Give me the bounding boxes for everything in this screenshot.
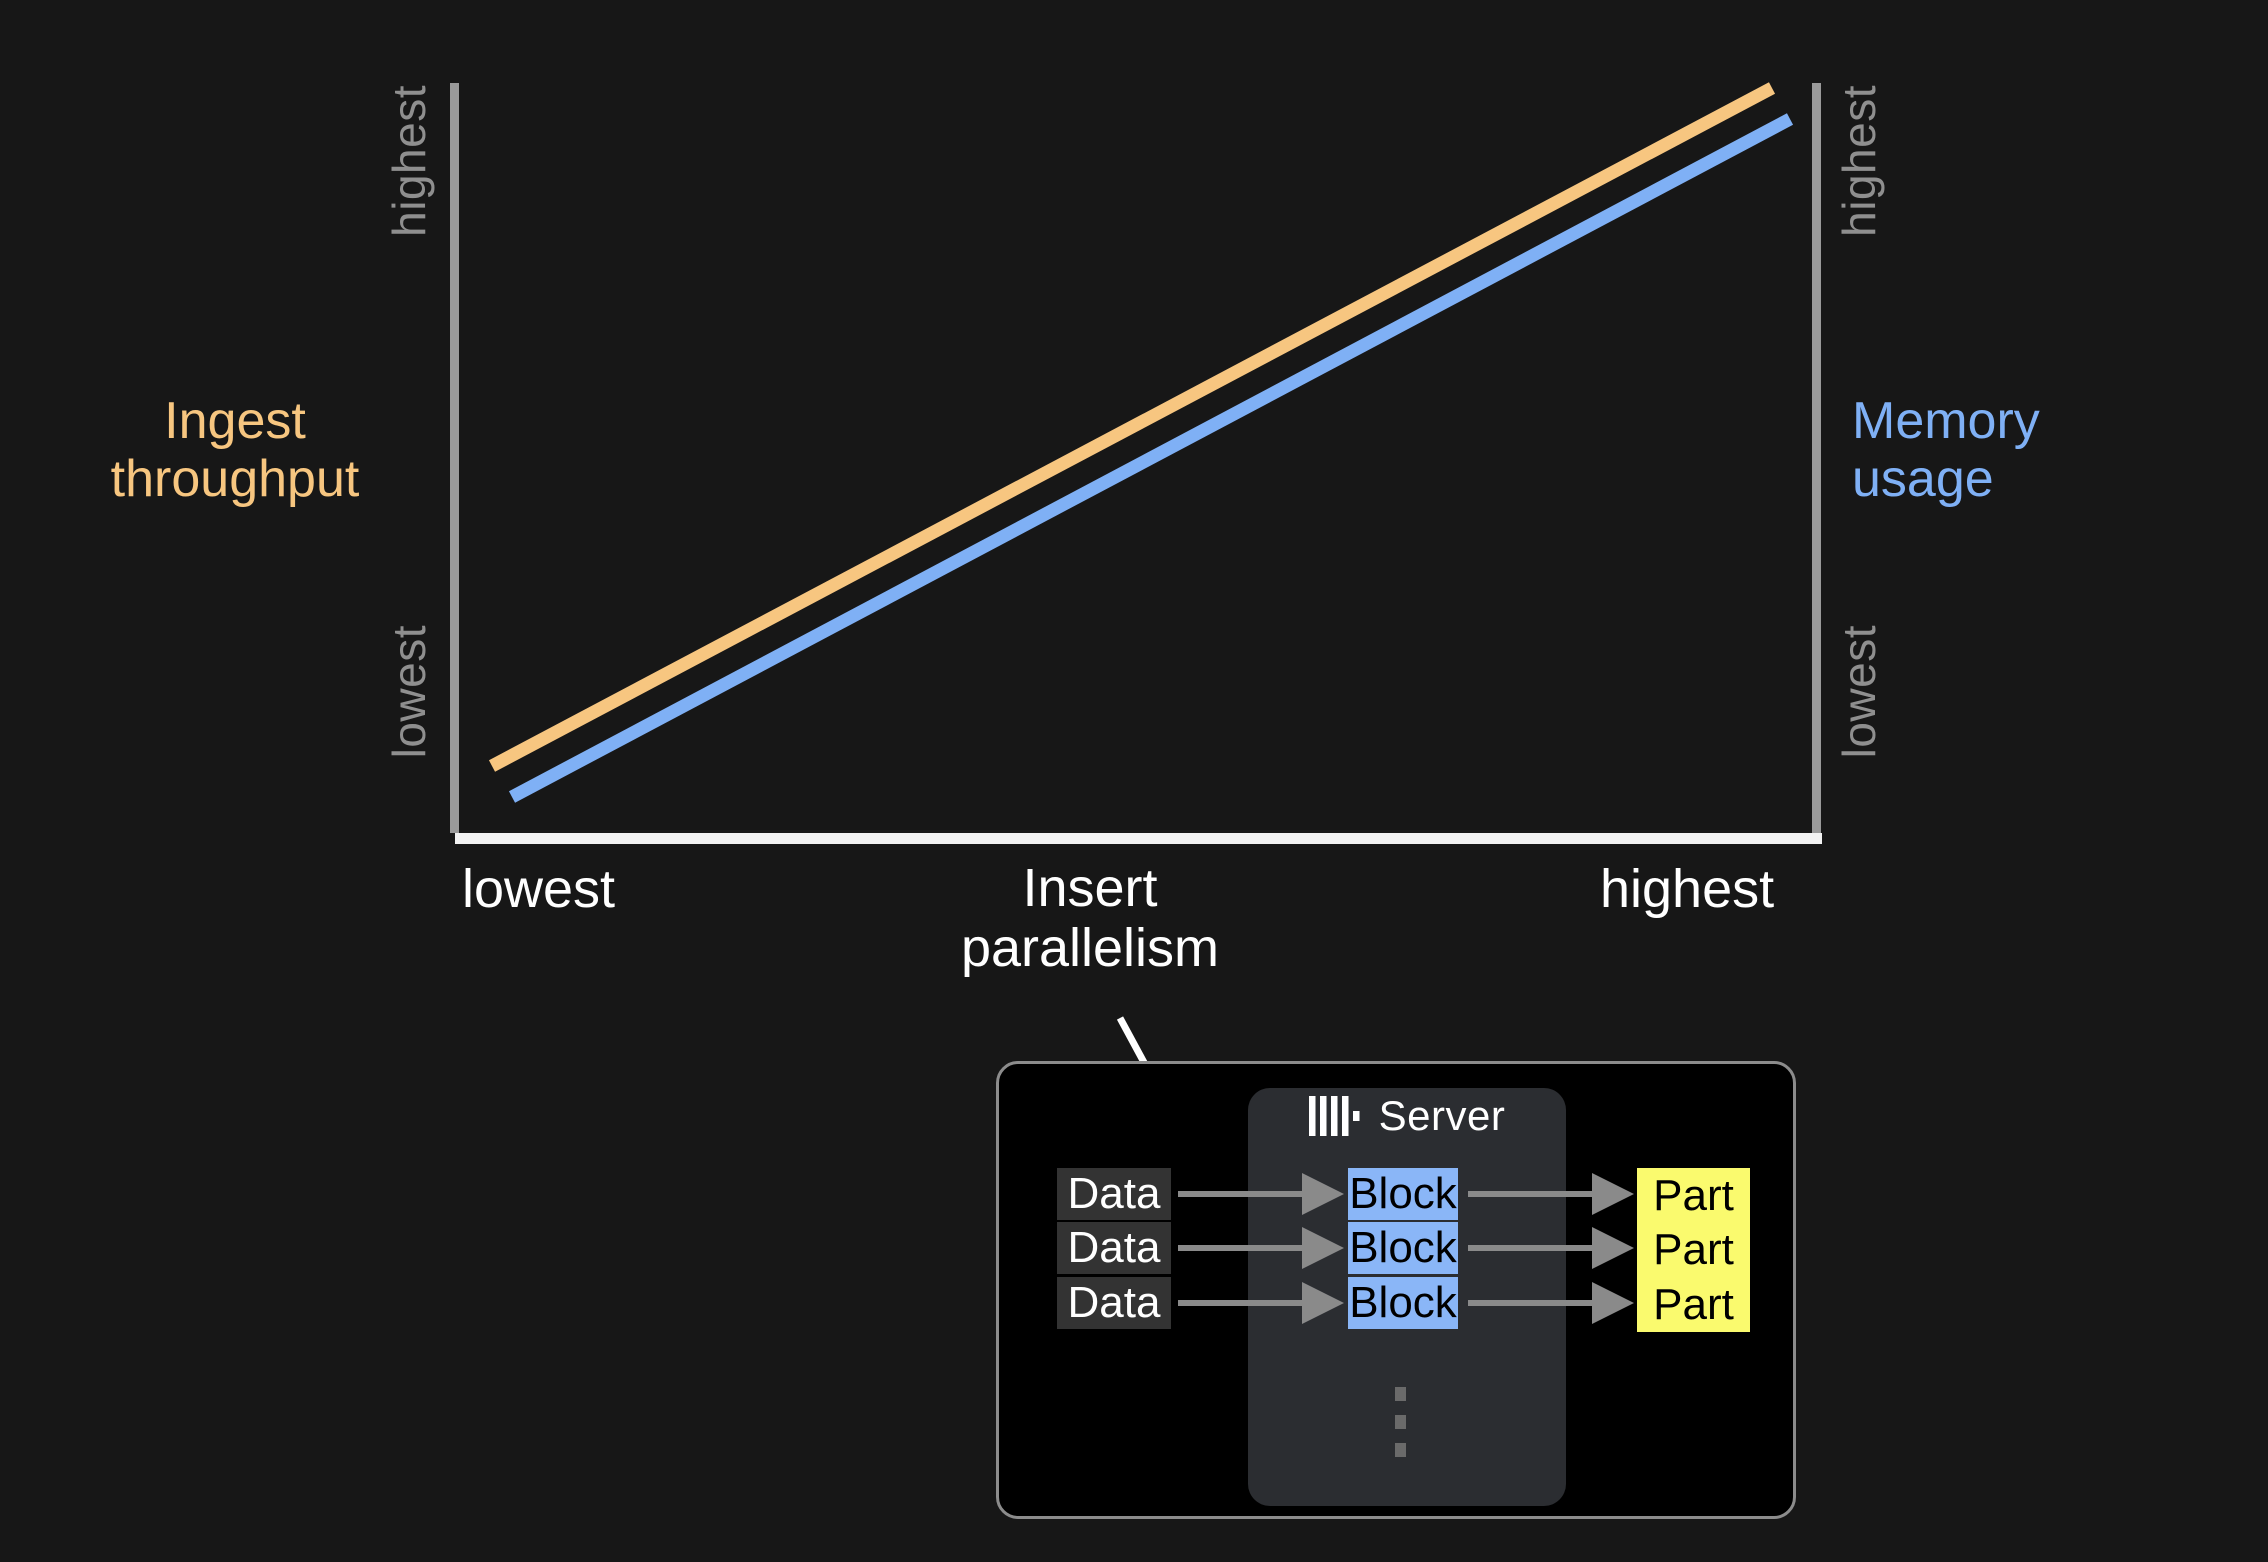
node-data-2: Data: [1057, 1222, 1171, 1274]
node-part-2: Part: [1637, 1222, 1750, 1277]
node-block-3: Block: [1348, 1277, 1458, 1329]
node-block-2: Block: [1348, 1222, 1458, 1274]
node-data-1: Data: [1057, 1168, 1171, 1220]
node-part-3: Part: [1637, 1277, 1750, 1332]
node-data-3: Data: [1057, 1277, 1171, 1329]
node-part-1: Part: [1637, 1168, 1750, 1223]
node-block-1: Block: [1348, 1168, 1458, 1220]
vertical-ellipsis-icon: [1393, 1387, 1407, 1457]
